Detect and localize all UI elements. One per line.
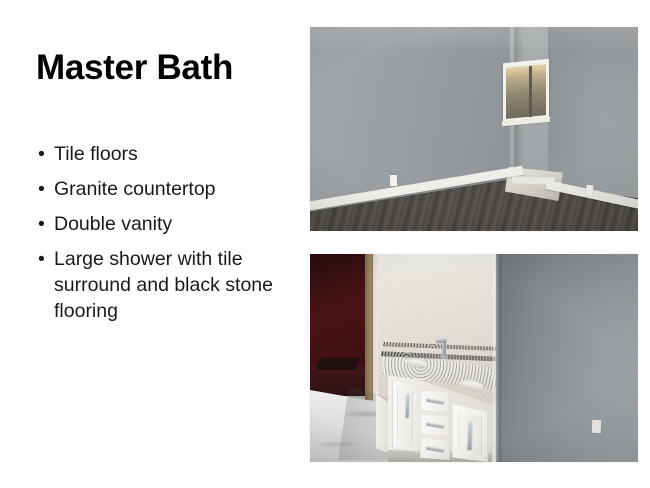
list-item: • Large shower with tile surround and bl… [36,247,298,325]
room-photo-top [310,27,638,231]
bullet-point-icon: • [38,142,45,168]
vanity-scene [310,254,638,462]
bullet-point-icon: • [38,177,45,203]
page-title: Master Bath [36,50,233,87]
list-item: • Tile floors [36,142,298,168]
bullet-point-icon: • [38,247,45,273]
list-item-label: Tile floors [54,143,138,165]
slide-text-column: Master Bath • Tile floors • Granite coun… [0,0,300,488]
room-scene [310,27,638,231]
vanity-photo-bottom [310,254,638,462]
list-item-label: Large shower with tile surround and blac… [54,248,273,322]
photo-vignette [310,27,638,231]
list-item: • Double vanity [36,212,298,238]
presentation-slide: Master Bath • Tile floors • Granite coun… [0,0,650,488]
photo-vignette [310,254,638,462]
list-item-label: Double vanity [54,213,172,235]
list-item-label: Granite countertop [54,178,216,200]
bullet-list: • Tile floors • Granite countertop • Dou… [36,142,298,334]
list-item: • Granite countertop [36,177,298,203]
bullet-point-icon: • [38,212,45,238]
